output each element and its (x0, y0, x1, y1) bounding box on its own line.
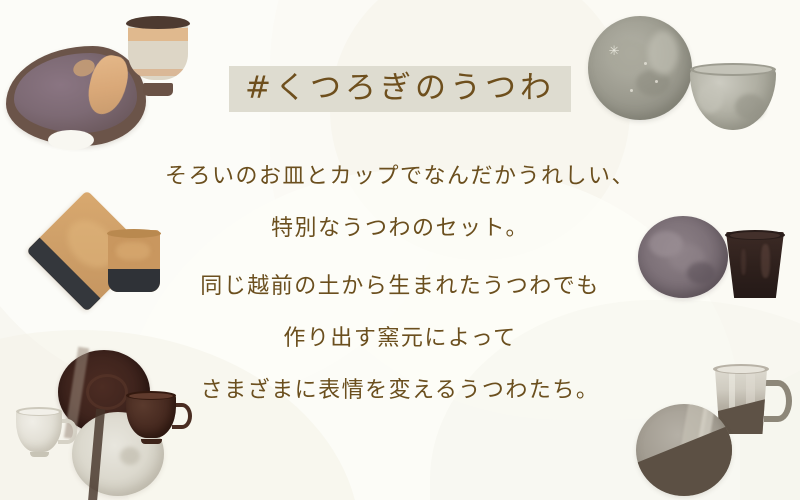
banner-body-copy: そろいのお皿とカップでなんだかうれしい、 特別なうつわのセット。 同じ越前の土か… (0, 162, 800, 406)
pottery-banner: ✳ (0, 0, 800, 500)
body-line-4: 作り出す窯元によって (0, 324, 800, 354)
white-teacup-illustration (16, 406, 72, 456)
body-line-2: 特別なうつわのセット。 (0, 214, 800, 244)
body-line-5: さまざまに表情を変えるうつわたち。 (0, 376, 800, 406)
title-area: #くつろぎのうつわ (0, 66, 800, 112)
two-tone-grey-plate-illustration (636, 404, 732, 496)
body-line-1: そろいのお皿とカップでなんだかうれしい、 (0, 162, 800, 192)
body-line-3: 同じ越前の土から生まれたうつわでも (0, 272, 800, 302)
banner-title: #くつろぎのうつわ (229, 66, 571, 112)
